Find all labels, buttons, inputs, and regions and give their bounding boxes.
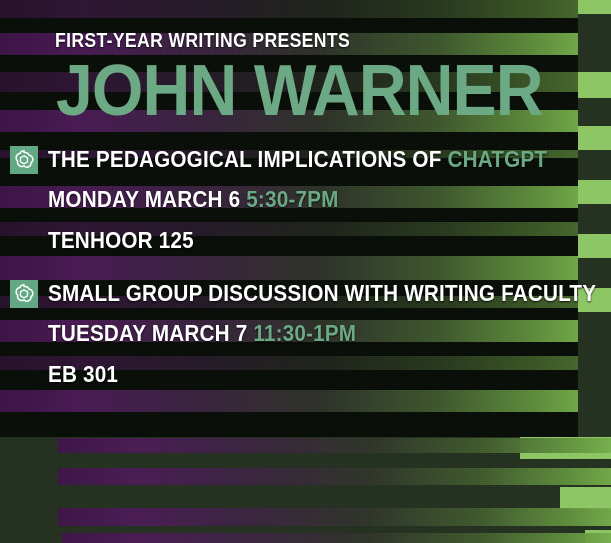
event-title-main: SMALL GROUP DISCUSSION WITH WRITING FACU… bbox=[48, 280, 596, 306]
chatgpt-logo-icon bbox=[10, 280, 38, 308]
event-datetime: MONDAY MARCH 6 5:30-7PM bbox=[48, 186, 339, 213]
event-title: THE PEDAGOGICAL IMPLICATIONS OF CHATGPT bbox=[48, 146, 547, 173]
event-title-main: THE PEDAGOGICAL IMPLICATIONS OF bbox=[48, 146, 447, 172]
poster-content: FIRST-YEAR WRITING PRESENTS JOHN WARNER … bbox=[0, 0, 611, 543]
event-location: EB 301 bbox=[48, 361, 118, 388]
page-title: JOHN WARNER bbox=[56, 55, 543, 127]
event-poster: FIRST-YEAR WRITING PRESENTS JOHN WARNER … bbox=[0, 0, 611, 543]
event-location: TENHOOR 125 bbox=[48, 227, 194, 254]
event-title: SMALL GROUP DISCUSSION WITH WRITING FACU… bbox=[48, 280, 596, 307]
event-title-accent: CHATGPT bbox=[447, 146, 547, 172]
event-date: TUESDAY MARCH 7 bbox=[48, 320, 253, 346]
event-date: MONDAY MARCH 6 bbox=[48, 186, 246, 212]
event-time: 5:30-7PM bbox=[246, 186, 338, 212]
chatgpt-logo-icon bbox=[10, 146, 38, 174]
event-time: 11:30-1PM bbox=[253, 320, 356, 346]
kicker-text: FIRST-YEAR WRITING PRESENTS bbox=[55, 30, 350, 53]
event-datetime: TUESDAY MARCH 7 11:30-1PM bbox=[48, 320, 356, 347]
